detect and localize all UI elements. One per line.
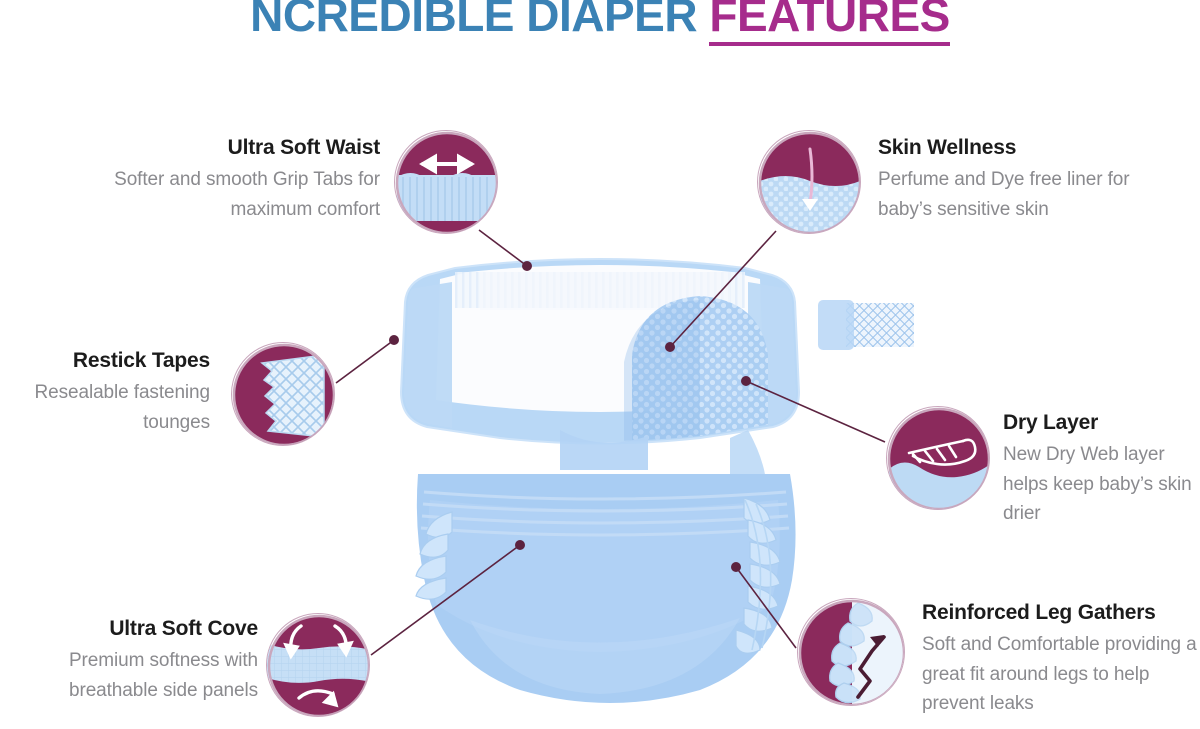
callout-restick-tapes: Restick Tapes Resealable fastening toung… xyxy=(0,348,210,437)
callout-body: Softer and smooth Grip Tabs for maximum … xyxy=(70,165,380,224)
infographic-page: NCREDIBLE DIAPER FEATURES xyxy=(0,0,1200,729)
callout-body: Soft and Comfortable providing a great f… xyxy=(922,630,1200,719)
callout-ultra-soft-waist: Ultra Soft Waist Softer and smooth Grip … xyxy=(70,135,380,224)
callout-body: Premium softness with breathable side pa… xyxy=(18,646,258,705)
callout-body: Perfume and Dye free liner for baby’s se… xyxy=(878,165,1188,224)
callout-title: Dry Layer xyxy=(1003,410,1200,436)
feather-icon[interactable] xyxy=(886,406,990,510)
callout-reinforced-leg-gathers: Reinforced Leg Gathers Soft and Comforta… xyxy=(922,600,1200,719)
callout-title: Ultra Soft Waist xyxy=(70,135,380,161)
callout-title: Skin Wellness xyxy=(878,135,1188,161)
callout-title: Reinforced Leg Gathers xyxy=(922,600,1200,626)
callout-dry-layer: Dry Layer New Dry Web layer helps keep b… xyxy=(1003,410,1200,529)
callout-title: Ultra Soft Cove xyxy=(18,616,258,642)
callout-ultra-soft-cove: Ultra Soft Cove Premium softness with br… xyxy=(18,616,258,705)
absorb-droplet-icon[interactable] xyxy=(757,130,861,234)
page-title-accent: FEATURES xyxy=(709,0,950,46)
page-title-main: NCREDIBLE DIAPER xyxy=(250,0,697,41)
callout-title: Restick Tapes xyxy=(0,348,210,374)
callout-skin-wellness: Skin Wellness Perfume and Dye free liner… xyxy=(878,135,1188,224)
waist-stretch-icon[interactable] xyxy=(394,130,498,234)
callout-body: New Dry Web layer helps keep baby’s skin… xyxy=(1003,440,1200,529)
airflow-band-icon[interactable] xyxy=(266,613,370,717)
page-title: NCREDIBLE DIAPER FEATURES xyxy=(0,0,1200,38)
leg-gather-arrow-icon[interactable] xyxy=(797,598,905,706)
tape-mesh-icon[interactable] xyxy=(231,342,335,446)
callout-body: Resealable fastening tounges xyxy=(0,378,210,437)
